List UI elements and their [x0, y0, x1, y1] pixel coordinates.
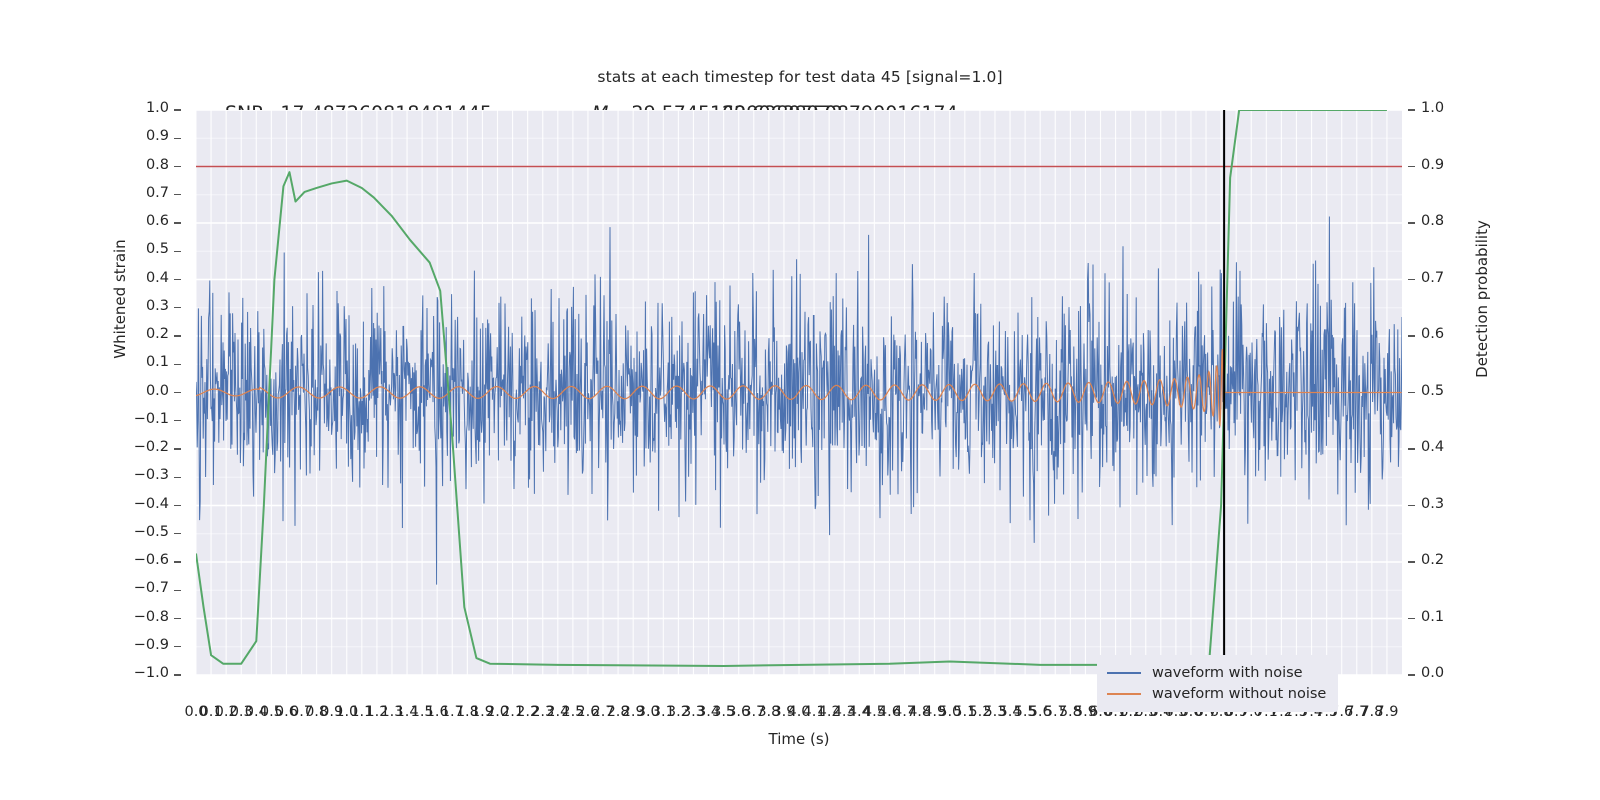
y-tick-label-left: −0.1: [134, 411, 169, 427]
y-tick-label-left: 0.8: [146, 157, 169, 173]
y-tick-label-left: 0.6: [146, 213, 169, 229]
y-tick-mark-left: [174, 166, 181, 167]
legend-label-noise: waveform with noise: [1152, 665, 1303, 681]
y-tick-mark-right: [1408, 109, 1415, 110]
y-tick-label-left: −0.4: [134, 496, 169, 512]
y-tick-mark-left: [174, 420, 181, 421]
y-tick-label-right: 0.1: [1421, 609, 1444, 625]
y-tick-mark-left: [174, 364, 181, 365]
y-tick-label-left: 0.2: [146, 326, 169, 342]
y-tick-mark-right: [1408, 222, 1415, 223]
y-tick-mark-left: [174, 561, 181, 562]
y-tick-label-right: 0.0: [1421, 665, 1444, 681]
y-tick-mark-right: [1408, 166, 1415, 167]
legend-item: waveform with noise: [1107, 662, 1326, 683]
y-tick-label-right: 0.2: [1421, 552, 1444, 568]
y-tick-mark-left: [174, 138, 181, 139]
y-tick-label-left: 0.1: [146, 354, 169, 370]
y-tick-mark-left: [174, 335, 181, 336]
y-tick-label-right: 0.7: [1421, 270, 1444, 286]
legend-item: waveform without noise: [1107, 683, 1326, 704]
y-tick-label-right: 0.4: [1421, 439, 1444, 455]
y-tick-label-left: −0.6: [134, 552, 169, 568]
y-tick-mark-right: [1408, 335, 1415, 336]
y-axis-ticks-left: −1.0−0.9−0.8−0.7−0.6−0.5−0.4−0.3−0.2−0.1…: [120, 110, 182, 675]
y-axis-ticks-right: 0.00.10.20.30.40.50.60.70.80.91.0: [1408, 110, 1478, 675]
y-tick-label-right: 0.6: [1421, 326, 1444, 342]
y-tick-mark-right: [1408, 505, 1415, 506]
y-tick-label-left: 0.7: [146, 185, 169, 201]
data-layer: [196, 110, 1402, 675]
y-tick-label-left: −0.5: [134, 524, 169, 540]
y-tick-mark-left: [174, 251, 181, 252]
y-tick-label-left: −0.2: [134, 439, 169, 455]
y-tick-label-left: 0.4: [146, 270, 169, 286]
plot-area: [196, 110, 1402, 675]
y-tick-mark-left: [174, 618, 181, 619]
y-tick-label-left: 0.5: [146, 241, 169, 257]
y-tick-mark-right: [1408, 279, 1415, 280]
y-tick-mark-left: [174, 590, 181, 591]
y-tick-label-left: −0.3: [134, 467, 169, 483]
y-tick-label-left: −1.0: [134, 665, 169, 681]
y-tick-mark-left: [174, 674, 181, 675]
y-tick-mark-left: [174, 646, 181, 647]
legend-label-clean: waveform without noise: [1152, 686, 1326, 702]
y-tick-mark-left: [174, 194, 181, 195]
y-tick-mark-left: [174, 533, 181, 534]
y-tick-mark-left: [174, 279, 181, 280]
y-tick-label-right: 1.0: [1421, 100, 1444, 116]
y-tick-label-right: 0.9: [1421, 157, 1444, 173]
legend-swatch-clean: [1107, 693, 1141, 695]
legend: waveform with noise waveform without noi…: [1097, 655, 1338, 712]
x-axis-label: Time (s): [196, 730, 1402, 748]
y-tick-mark-left: [174, 222, 181, 223]
y-tick-label-left: 0.0: [146, 383, 169, 399]
y-tick-mark-right: [1408, 448, 1415, 449]
y-tick-label-left: 0.3: [146, 298, 169, 314]
y-tick-mark-right: [1408, 674, 1415, 675]
y-tick-mark-right: [1408, 392, 1415, 393]
y-tick-mark-right: [1408, 561, 1415, 562]
y-tick-label-left: −0.8: [134, 609, 169, 625]
y-tick-label-left: 1.0: [146, 100, 169, 116]
y-tick-label-left: 0.9: [146, 128, 169, 144]
y-tick-label-left: −0.7: [134, 580, 169, 596]
y-tick-mark-right: [1408, 618, 1415, 619]
y-tick-label-right: 0.5: [1421, 383, 1444, 399]
figure-canvas: stats at each timestep for test data 45 …: [0, 0, 1600, 800]
y-tick-mark-left: [174, 477, 181, 478]
y-tick-mark-left: [174, 448, 181, 449]
y-tick-mark-left: [174, 307, 181, 308]
x-tick-label: 7.9: [1375, 704, 1398, 720]
y-tick-mark-left: [174, 109, 181, 110]
y-tick-label-left: −0.9: [134, 637, 169, 653]
legend-swatch-noise: [1107, 672, 1141, 674]
y-tick-label-right: 0.8: [1421, 213, 1444, 229]
y-tick-mark-left: [174, 505, 181, 506]
y-tick-mark-left: [174, 392, 181, 393]
y-tick-label-right: 0.3: [1421, 496, 1444, 512]
page-title: stats at each timestep for test data 45 …: [0, 68, 1600, 86]
